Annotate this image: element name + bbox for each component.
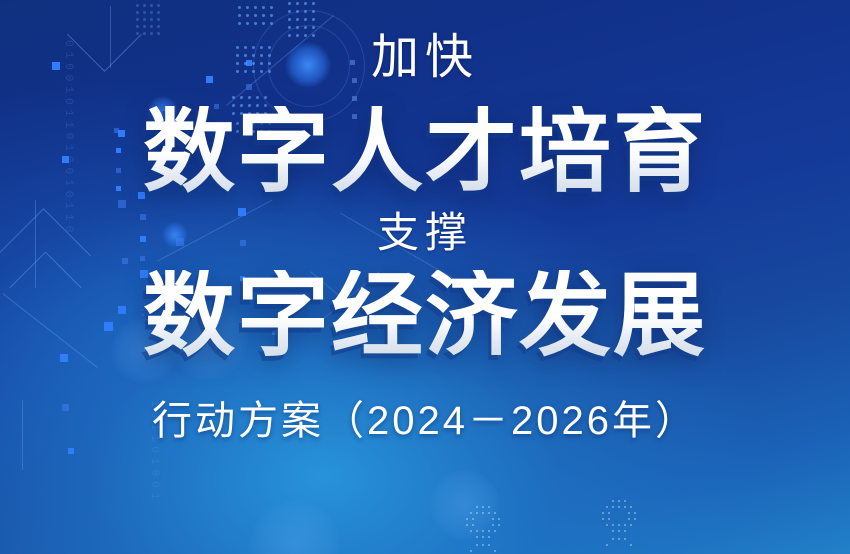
poster-text-content: 加快 数字人才培育 支撑 数字经济发展 行动方案（2024－2026年） — [0, 0, 850, 554]
poster-headline-digital-economy: 数字经济发展 — [143, 270, 707, 362]
poster-headline-digital-talent: 数字人才培育 — [143, 106, 707, 198]
poster-line-accelerate: 加快 — [371, 34, 479, 82]
poster-line-support: 支撑 — [377, 212, 473, 254]
poster-subtitle-action-plan: 行动方案（2024－2026年） — [152, 388, 698, 446]
poster-canvas: 01001011010010110 101101001 — [0, 0, 850, 554]
